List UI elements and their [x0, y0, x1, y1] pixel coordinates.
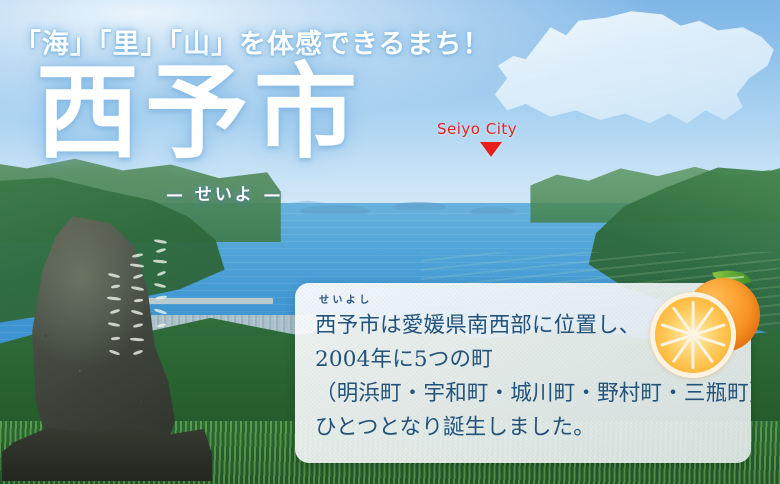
furigana-seiyoshi: せいよし	[319, 291, 373, 306]
city-name-reading: — せいよ —	[166, 180, 284, 205]
horizon-island	[470, 207, 516, 214]
horizon-island	[392, 202, 446, 210]
mikan-half-slice	[650, 292, 736, 378]
monument-calligraphy-engraving	[87, 236, 169, 421]
page-title-city-name: 西予市	[36, 60, 363, 165]
description-line-3: （明浜町・宇和町・城川町・野村町・三瓶町）が	[315, 377, 739, 411]
seiyo-city-marker-label: Seiyo City	[437, 120, 517, 138]
calligraphy-column	[152, 236, 168, 421]
calligraphy-column	[106, 270, 122, 421]
horizon-island	[300, 205, 370, 214]
mandarin-orange-icon	[650, 272, 762, 378]
seiyo-city-promotional-banner: 「海」「里」「山」を体感できるまち！ 西予市 — せいよ — Seiyo Cit…	[0, 0, 780, 484]
description-line-4: ひとつとなり誕生しました。	[315, 411, 739, 445]
stone-monument-with-calligraphy-icon	[22, 216, 192, 466]
seiyo-city-marker: Seiyo City	[437, 120, 517, 157]
calligraphy-column	[129, 252, 145, 421]
map-pin-triangle-icon	[480, 142, 502, 157]
mikan-center	[689, 331, 698, 340]
